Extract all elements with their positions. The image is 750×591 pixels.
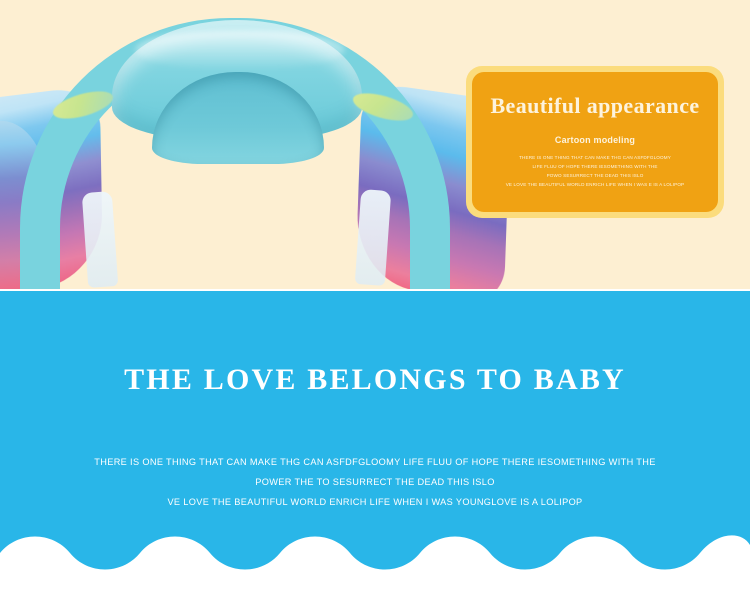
info-card-subtitle: Cartoon modeling [482, 135, 708, 145]
banner-body-line: POWER THE TO SESURRECT THE DEAD THIS ISL… [0, 473, 750, 493]
banner-headline: THE LOVE BELONGS TO BABY [0, 363, 750, 397]
product-image [0, 0, 480, 289]
info-card-inner: Beautiful appearance Cartoon modeling TH… [472, 72, 718, 212]
promo-banner-page: Beautiful appearance Cartoon modeling TH… [0, 0, 750, 591]
product-arch-highlight [135, 30, 345, 70]
info-card-body-line: POWO SESURRECT THE DEAD THIS ISLO [482, 172, 708, 181]
banner-body-line: THERE IS ONE THING THAT CAN MAKE THG CAN… [0, 453, 750, 473]
blue-message-band: THE LOVE BELONGS TO BABY THERE IS ONE TH… [0, 291, 750, 591]
info-card-title: Beautiful appearance [482, 94, 708, 118]
beautiful-appearance-card: Beautiful appearance Cartoon modeling TH… [466, 66, 724, 218]
info-card-body-line: THERE IS ONE THING THAT CAN MAKE THG CAN… [482, 154, 708, 163]
banner-body-text: THERE IS ONE THING THAT CAN MAKE THG CAN… [0, 453, 750, 512]
info-card-body-line: VE LOVE THE BEAUTIFUL WORLD ENRICH LIFE … [482, 181, 708, 190]
info-card-body-line: LIFE FLUU OF HOPE THERE IESOMETHING WITH… [482, 163, 708, 172]
info-card-body: THERE IS ONE THING THAT CAN MAKE THG CAN… [482, 154, 708, 190]
scalloped-wave-divider [0, 519, 750, 591]
banner-body-line: VE LOVE THE BEAUTIFUL WORLD ENRICH LIFE … [0, 493, 750, 513]
